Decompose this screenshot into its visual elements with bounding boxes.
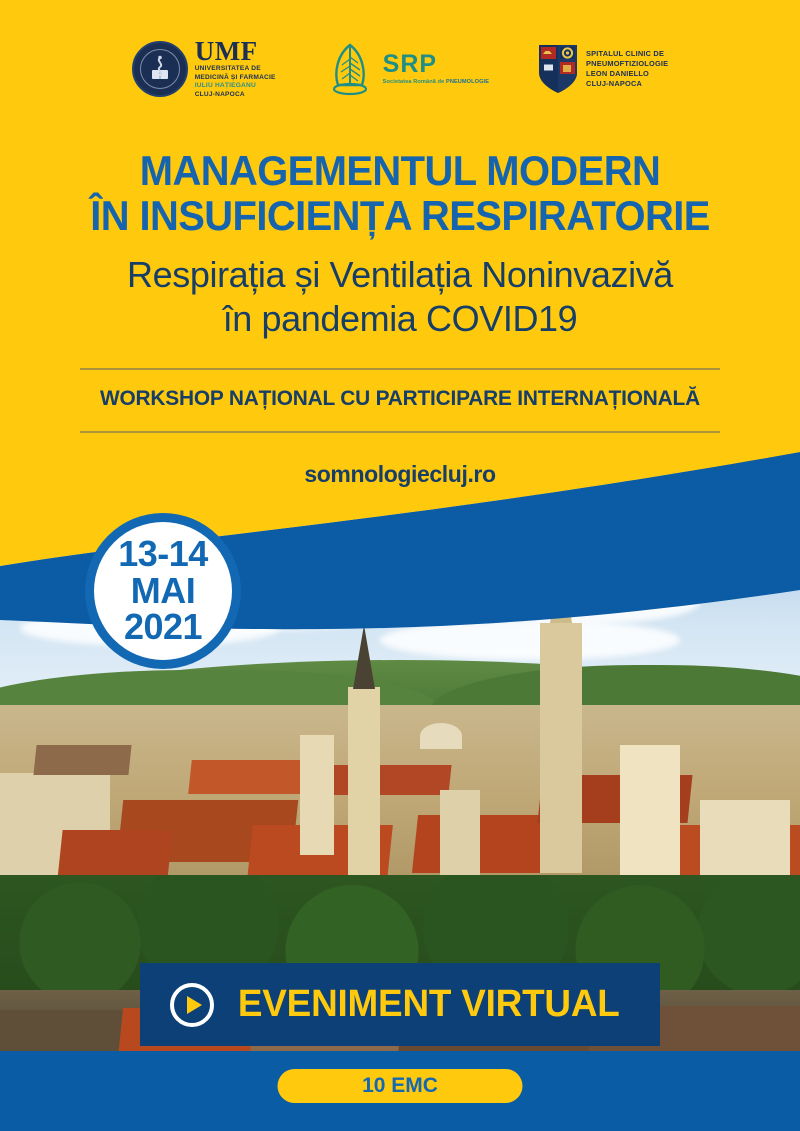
subtitle-line-2: în pandemia COVID19: [0, 297, 800, 342]
title-line-2: ÎN INSUFICIENȚA RESPIRATORIE: [20, 193, 780, 238]
srp-fullname: Societatea Română de PNEUMOLOGIE: [383, 79, 489, 85]
srp-lung-tree-icon: [324, 41, 376, 97]
badge-month: MAI: [131, 573, 196, 610]
divider-top: [80, 368, 720, 370]
poster-subtitle: Respirația și Ventilația Noninvazivă în …: [0, 253, 800, 342]
umf-fullname: UNIVERSITATEA DE MEDICINĂ ȘI FARMACIE IU…: [195, 65, 276, 100]
building: [440, 790, 480, 875]
building: [300, 735, 334, 855]
srp-sub-bold: PNEUMOLOGIE: [446, 79, 489, 85]
umf-text-block: UMF UNIVERSITATEA DE MEDICINĂ ȘI FARMACI…: [195, 38, 276, 100]
roof: [33, 745, 131, 775]
cloud: [380, 620, 680, 660]
umf-line3: IULIU HAȚIEGANU: [195, 82, 276, 91]
umf-logo: UMF UNIVERSITATEA DE MEDICINĂ ȘI FARMACI…: [132, 38, 276, 100]
play-triangle: [187, 996, 202, 1014]
divider-bottom: [80, 431, 720, 433]
badge-days: 13-14: [118, 536, 208, 573]
church-tower-secondary: [348, 687, 380, 877]
srp-logo: SRP Societatea Română de PNEUMOLOGIE: [324, 41, 489, 97]
subtitle-line-1: Respirația și Ventilația Noninvazivă: [0, 253, 800, 298]
umf-seal-icon: [132, 41, 188, 97]
roof: [57, 830, 172, 880]
cloud: [470, 580, 700, 624]
hospital-line4: CLUJ-NAPOCA: [586, 79, 668, 89]
emc-credits-label: 10 EMC: [362, 1074, 438, 1098]
church-tower-main: [540, 623, 582, 873]
logo-row: UMF UNIVERSITATEA DE MEDICINĂ ȘI FARMACI…: [0, 38, 800, 100]
church-dome: [420, 723, 462, 749]
building: [620, 745, 680, 875]
umf-line4: CLUJ-NAPOCA: [195, 91, 276, 100]
church-spire-secondary: [353, 625, 375, 689]
hospital-logo: SPITALUL CLINIC DE PNEUMOFTIZIOLOGIE LEO…: [537, 43, 668, 95]
website-link[interactable]: somnologiecluj.ro: [0, 461, 800, 488]
hospital-text-block: SPITALUL CLINIC DE PNEUMOFTIZIOLOGIE LEO…: [586, 49, 668, 89]
conference-poster: UMF UNIVERSITATEA DE MEDICINĂ ȘI FARMACI…: [0, 0, 800, 1131]
hospital-line2: PNEUMOFTIZIOLOGIE: [586, 59, 668, 69]
umf-line2: MEDICINĂ ȘI FARMACIE: [195, 74, 276, 83]
hospital-shield-icon: [537, 43, 579, 95]
umf-line1: UNIVERSITATEA DE: [195, 65, 276, 74]
badge-year: 2021: [124, 609, 202, 646]
title-line-1: MANAGEMENTUL MODERN: [20, 148, 780, 193]
title-block: MANAGEMENTUL MODERN ÎN INSUFICIENȚA RESP…: [0, 148, 800, 488]
umf-acronym: UMF: [195, 38, 276, 65]
roof: [328, 765, 451, 795]
hospital-line3: LEON DANIELLO: [586, 69, 668, 79]
virtual-event-label: EVENIMENT VIRTUAL: [238, 983, 620, 1026]
date-badge: 13-14 MAI 2021: [85, 513, 241, 669]
play-circle-icon: [170, 983, 214, 1027]
srp-acronym: SRP: [383, 52, 489, 77]
badge-face: 13-14 MAI 2021: [94, 522, 232, 660]
cloud: [330, 550, 510, 586]
virtual-event-banner: EVENIMENT VIRTUAL: [140, 963, 660, 1046]
srp-text-block: SRP Societatea Română de PNEUMOLOGIE: [383, 52, 489, 85]
church-spire-main: [550, 545, 572, 623]
workshop-label: WORKSHOP NAȚIONAL CU PARTICIPARE INTERNA…: [12, 386, 788, 411]
emc-credits-badge: 10 EMC: [278, 1069, 523, 1103]
hospital-line1: SPITALUL CLINIC DE: [586, 49, 668, 59]
poster-title: MANAGEMENTUL MODERN ÎN INSUFICIENȚA RESP…: [20, 148, 780, 239]
srp-sub-plain: Societatea Română de: [383, 79, 446, 85]
